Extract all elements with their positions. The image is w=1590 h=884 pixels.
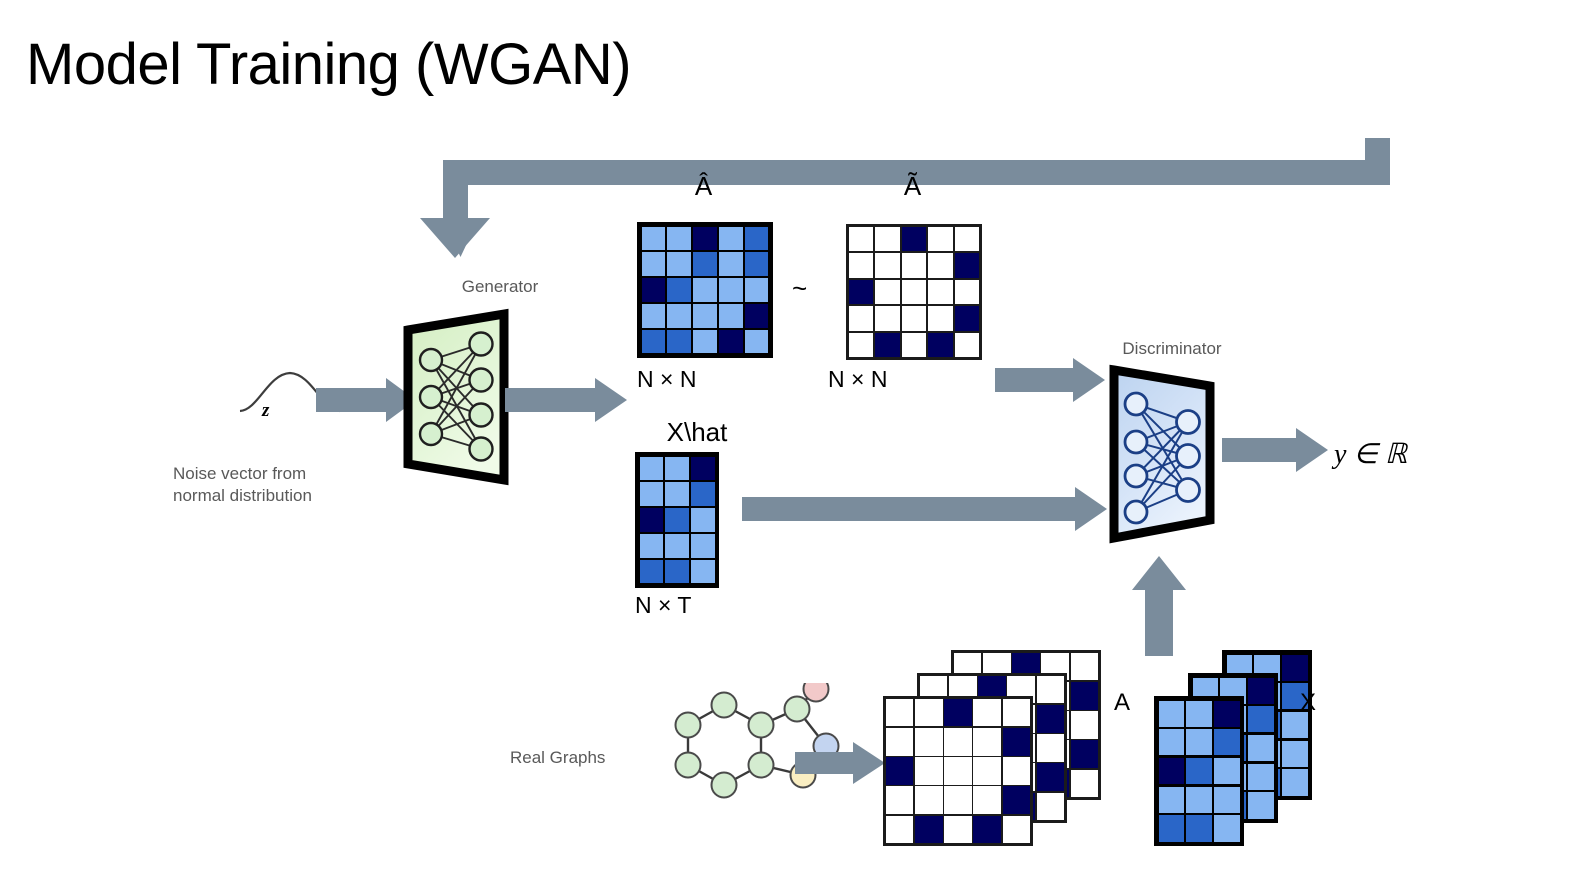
matrix-cell [886,786,914,814]
matrix-cell [1003,786,1031,814]
matrix-cell [1159,729,1184,755]
matrix-cell [1248,792,1273,818]
matrix-cell [1037,676,1065,704]
matrix-cell [691,508,714,531]
matrix-cell [973,786,1001,814]
matrix-cell [973,699,1001,727]
generator-label: Generator [420,276,580,298]
a-tilde-title: Ã [845,172,980,200]
matrix-cell [973,728,1001,756]
matrix-cell [640,560,663,583]
matrix-cell [849,227,874,252]
matrix-cell [1071,653,1099,681]
matrix-cell [1214,729,1239,755]
matrix-cell [1282,769,1307,795]
matrix-cell [642,278,665,301]
matrix-cell [1282,741,1307,767]
matrix-cell [875,253,900,278]
matrix-cell [693,227,716,250]
matrix-cell [719,304,742,327]
matrix-cell [1159,787,1184,813]
matrix-cell [955,333,980,358]
matrix-cell [640,457,663,480]
molecule-node [749,713,774,738]
matrix-cell [902,227,927,252]
x-hat-dims: N × T [635,592,691,618]
matrix-cell [719,227,742,250]
matrix-cell [1186,758,1211,784]
matrix-cell [849,280,874,305]
matrix-cell [640,482,663,505]
molecule-node [676,753,701,778]
matrix-cell [691,457,714,480]
a-tilde-matrix [846,224,982,360]
matrix-cell [955,227,980,252]
realdata-to-discriminator-arrow [1130,556,1190,656]
matrix-cell [1159,815,1184,841]
matrix-cell [693,252,716,275]
real-x-matrix-front [1154,696,1244,846]
matrix-cell [667,278,690,301]
matrix-cell [745,278,768,301]
ahat-to-discriminator-arrow [995,358,1105,408]
matrix-cell [665,457,688,480]
matrix-cell [915,816,943,844]
matrix-cell [915,699,943,727]
matrix-cell [928,280,953,305]
matrix-cell [886,728,914,756]
matrix-cell [902,253,927,278]
matrix-cell [691,482,714,505]
output-label: y ∈ ℝ [1334,437,1407,471]
matrix-cell [973,757,1001,785]
matrix-cell [902,333,927,358]
x-hat-title: X\hat [607,418,787,446]
matrix-cell [667,227,690,250]
matrix-cell [667,304,690,327]
generator-network[interactable] [396,312,516,482]
real-graphs-label: Real Graphs [510,747,650,769]
matrix-cell [745,330,768,353]
molecule-node [785,697,810,722]
discriminator-to-output-arrow [1222,428,1328,478]
matrix-cell [691,560,714,583]
real-x-label: X [1300,690,1316,716]
matrix-cell [902,280,927,305]
matrix-cell [642,227,665,250]
molecule-node [749,753,774,778]
matrix-cell [928,253,953,278]
matrix-cell [944,757,972,785]
matrix-cell [1037,763,1065,791]
matrix-cell [928,306,953,331]
matrix-cell [693,304,716,327]
matrix-cell [1186,815,1211,841]
matrix-cell [955,253,980,278]
matrix-cell [1186,787,1211,813]
matrix-cell [1071,770,1099,798]
noise-caption: Noise vector from normal distribution [173,463,403,507]
xhat-to-discriminator-arrow [742,487,1107,537]
x-hat-matrix [635,452,719,588]
molecule-node [804,683,829,702]
matrix-cell [928,227,953,252]
realgraphs-to-matrices-arrow [795,742,885,790]
molecule-node [676,713,701,738]
matrix-cell [665,560,688,583]
matrix-cell [1186,729,1211,755]
matrix-cell [955,280,980,305]
a-hat-dims: N × N [637,366,696,392]
matrix-cell [849,306,874,331]
matrix-cell [849,333,874,358]
matrix-cell [665,508,688,531]
a-hat-matrix [637,222,773,358]
matrix-cell [719,252,742,275]
matrix-cell [642,252,665,275]
matrix-cell [1248,764,1273,790]
diagram-canvas: Model Training (WGAN) z Noise vector fro… [0,0,1590,884]
matrix-cell [875,227,900,252]
matrix-cell [1159,758,1184,784]
matrix-cell [973,816,1001,844]
matrix-cell [640,508,663,531]
discriminator-label: Discriminator [1092,338,1252,360]
matrix-cell [875,280,900,305]
matrix-cell [1248,678,1273,704]
matrix-cell [1037,734,1065,762]
matrix-cell [1003,816,1031,844]
matrix-cell [1071,711,1099,739]
matrix-cell [915,757,943,785]
matrix-cell [667,330,690,353]
matrix-cell [667,252,690,275]
matrix-cell [1248,706,1273,732]
matrix-cell [1214,787,1239,813]
matrix-cell [1037,793,1065,821]
matrix-cell [1214,758,1239,784]
molecule-node [712,773,737,798]
matrix-cell [1214,701,1239,727]
matrix-cell [1003,699,1031,727]
matrix-cell [944,728,972,756]
real-a-matrix-front [883,696,1033,846]
discriminator-network[interactable] [1104,366,1224,542]
matrix-cell [693,330,716,353]
matrix-cell [1071,682,1099,710]
matrix-cell [665,534,688,557]
matrix-cell [665,482,688,505]
a-hat-title: Â [636,172,771,200]
matrix-cell [875,306,900,331]
noise-symbol-z: z [262,400,269,422]
matrix-cell [915,728,943,756]
matrix-cell [1071,740,1099,768]
matrix-cell [719,278,742,301]
matrix-cell [1037,705,1065,733]
matrix-cell [886,699,914,727]
matrix-cell [1003,757,1031,785]
matrix-cell [693,278,716,301]
matrix-cell [955,306,980,331]
matrix-cell [915,786,943,814]
matrix-cell [886,816,914,844]
matrix-cell [640,534,663,557]
matrix-cell [1282,655,1307,681]
matrix-cell [691,534,714,557]
matrix-cell [944,699,972,727]
matrix-cell [944,786,972,814]
matrix-cell [1214,815,1239,841]
matrix-cell [886,757,914,785]
matrix-cell [875,333,900,358]
similarity-symbol: ~ [792,273,807,304]
matrix-cell [944,816,972,844]
matrix-cell [928,333,953,358]
matrix-cell [745,252,768,275]
matrix-cell [902,306,927,331]
matrix-cell [745,227,768,250]
molecule-node [712,693,737,718]
matrix-cell [849,253,874,278]
matrix-cell [642,330,665,353]
matrix-cell [745,304,768,327]
matrix-cell [719,330,742,353]
a-tilde-dims: N × N [828,366,887,392]
matrix-cell [642,304,665,327]
real-a-label: A [1114,690,1130,716]
matrix-cell [1248,735,1273,761]
page-title: Model Training (WGAN) [26,30,631,100]
matrix-cell [1186,701,1211,727]
matrix-cell [1159,701,1184,727]
matrix-cell [1003,728,1031,756]
